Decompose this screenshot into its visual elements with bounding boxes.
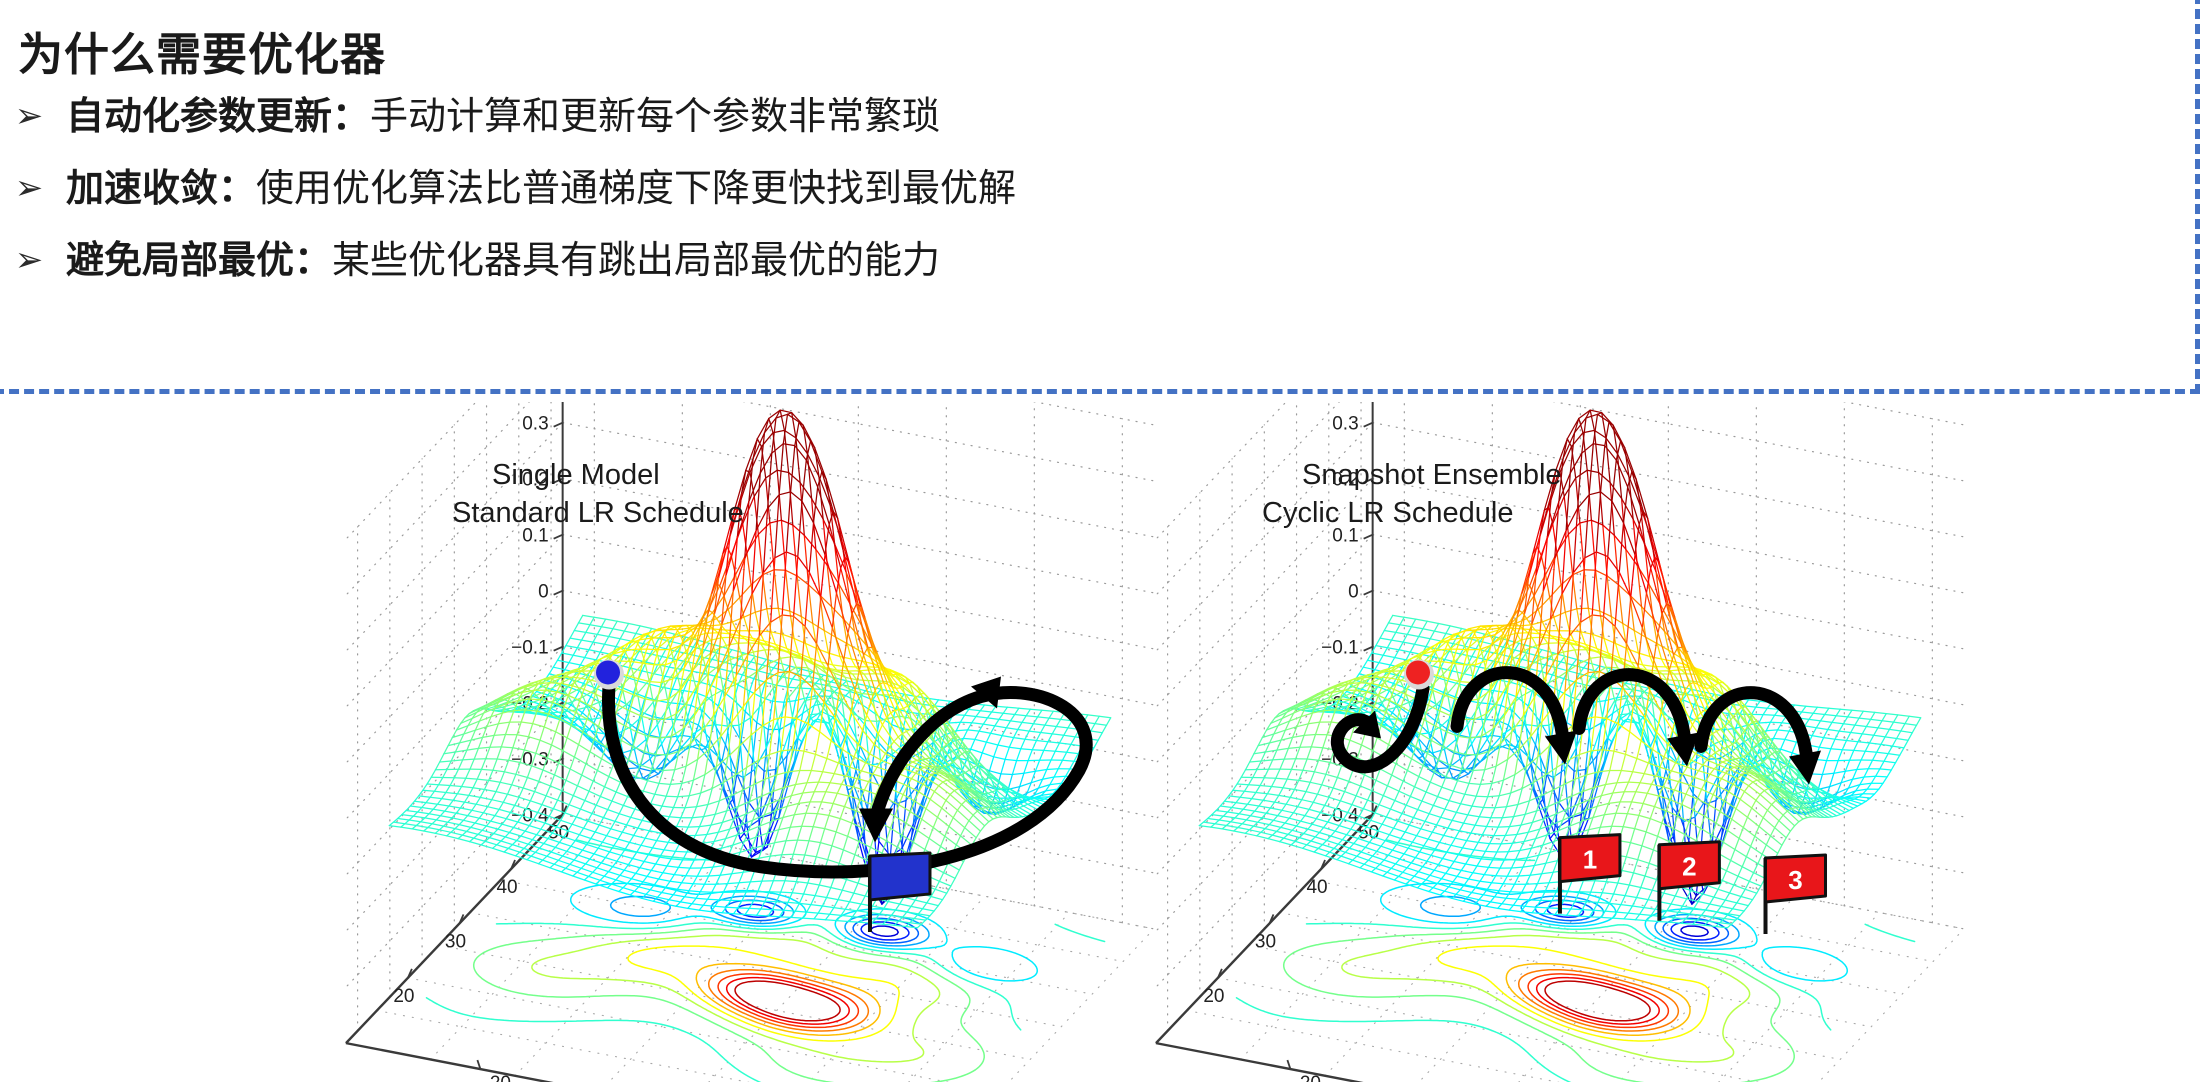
surface-plot-right: 0.50.40.30.20.10−0.1−0.2−0.3−0.450403020…	[1040, 402, 2140, 1082]
flag-label: 1	[1583, 845, 1597, 875]
axis-tick-label: 20	[1203, 986, 1224, 1007]
start-point-marker	[1404, 659, 1434, 689]
axis-tick-label: −0.3	[511, 750, 549, 771]
list-item: ➢ 自动化参数更新：手动计算和更新每个参数非常繁琐	[14, 96, 1016, 168]
bullet-label: 加速收敛：	[66, 168, 256, 210]
axis-tick-label: 0.3	[1332, 414, 1358, 435]
bullet-body: 某些优化器具有跳出局部最优的能力	[332, 240, 940, 282]
list-item: ➢ 避免局部最优：某些优化器具有跳出局部最优的能力	[14, 240, 1016, 312]
chevron-bullet-icon: ➢	[14, 99, 44, 133]
axis-tick-label: 30	[1255, 931, 1276, 952]
bullet-body: 手动计算和更新每个参数非常繁琐	[370, 96, 940, 138]
chart-title-line1: Snapshot Ensemble	[1302, 459, 1562, 491]
chart-panel-snapshot-ensemble: 0.50.40.30.20.10−0.1−0.2−0.3−0.450403020…	[1040, 402, 2140, 1082]
bullet-text: 加速收敛：使用优化算法比普通梯度下降更快找到最优解	[66, 168, 1016, 212]
axis-tick-label: 20	[490, 1073, 511, 1082]
axis-tick-label: 40	[496, 877, 517, 898]
flag-marker: 3	[1766, 855, 1826, 934]
axis-tick-label: −0.1	[1321, 638, 1359, 659]
panel-title-group: Single ModelStandard LR Schedule	[452, 459, 744, 529]
axis-tick-label: 0	[1348, 582, 1359, 603]
flag-label: 2	[1682, 852, 1696, 882]
axis-tick-label: 0.3	[522, 414, 548, 435]
contour-floor	[427, 840, 1105, 1082]
panel-title-group: Snapshot EnsembleCyclic LR Schedule	[1262, 459, 1562, 529]
flag-label: 3	[1788, 865, 1802, 895]
start-point-marker	[594, 659, 624, 689]
chevron-bullet-icon: ➢	[14, 243, 44, 277]
axis-tick-label: 40	[1306, 877, 1327, 898]
bullet-label: 自动化参数更新：	[66, 96, 370, 138]
list-item: ➢ 加速收敛：使用优化算法比普通梯度下降更快找到最优解	[14, 168, 1016, 240]
y-axis-ticks: 20304050	[1287, 1060, 1724, 1082]
axis-tick-label: 20	[393, 986, 414, 1007]
axis-tick-label: 20	[1300, 1073, 1321, 1082]
axis-tick-label: 0	[538, 582, 549, 603]
slide-root: 为什么需要优化器 ➢ 自动化参数更新：手动计算和更新每个参数非常繁琐 ➢ 加速收…	[0, 0, 2208, 1082]
chart-title-line1: Single Model	[492, 459, 660, 491]
bullet-text: 避免局部最优：某些优化器具有跳出局部最优的能力	[66, 240, 940, 284]
y-axis-ticks: 20304050	[477, 1060, 914, 1082]
chart-title-line2: Cyclic LR Schedule	[1262, 497, 1513, 529]
bullet-body: 使用优化算法比普通梯度下降更快找到最优解	[256, 168, 1016, 210]
axis-tick-label: 30	[445, 931, 466, 952]
loss-surface-figure: 0.50.40.30.20.10−0.1−0.2−0.3−0.450403020…	[0, 402, 2208, 1082]
bullet-list: ➢ 自动化参数更新：手动计算和更新每个参数非常繁琐 ➢ 加速收敛：使用优化算法比…	[14, 96, 1016, 312]
bullet-label: 避免局部最优：	[66, 240, 332, 282]
page-title: 为什么需要优化器	[18, 18, 386, 83]
chevron-bullet-icon: ➢	[14, 171, 44, 205]
chart-title-line2: Standard LR Schedule	[452, 497, 744, 529]
bullet-text: 自动化参数更新：手动计算和更新每个参数非常繁琐	[66, 96, 940, 140]
axis-tick-label: −0.1	[511, 638, 549, 659]
